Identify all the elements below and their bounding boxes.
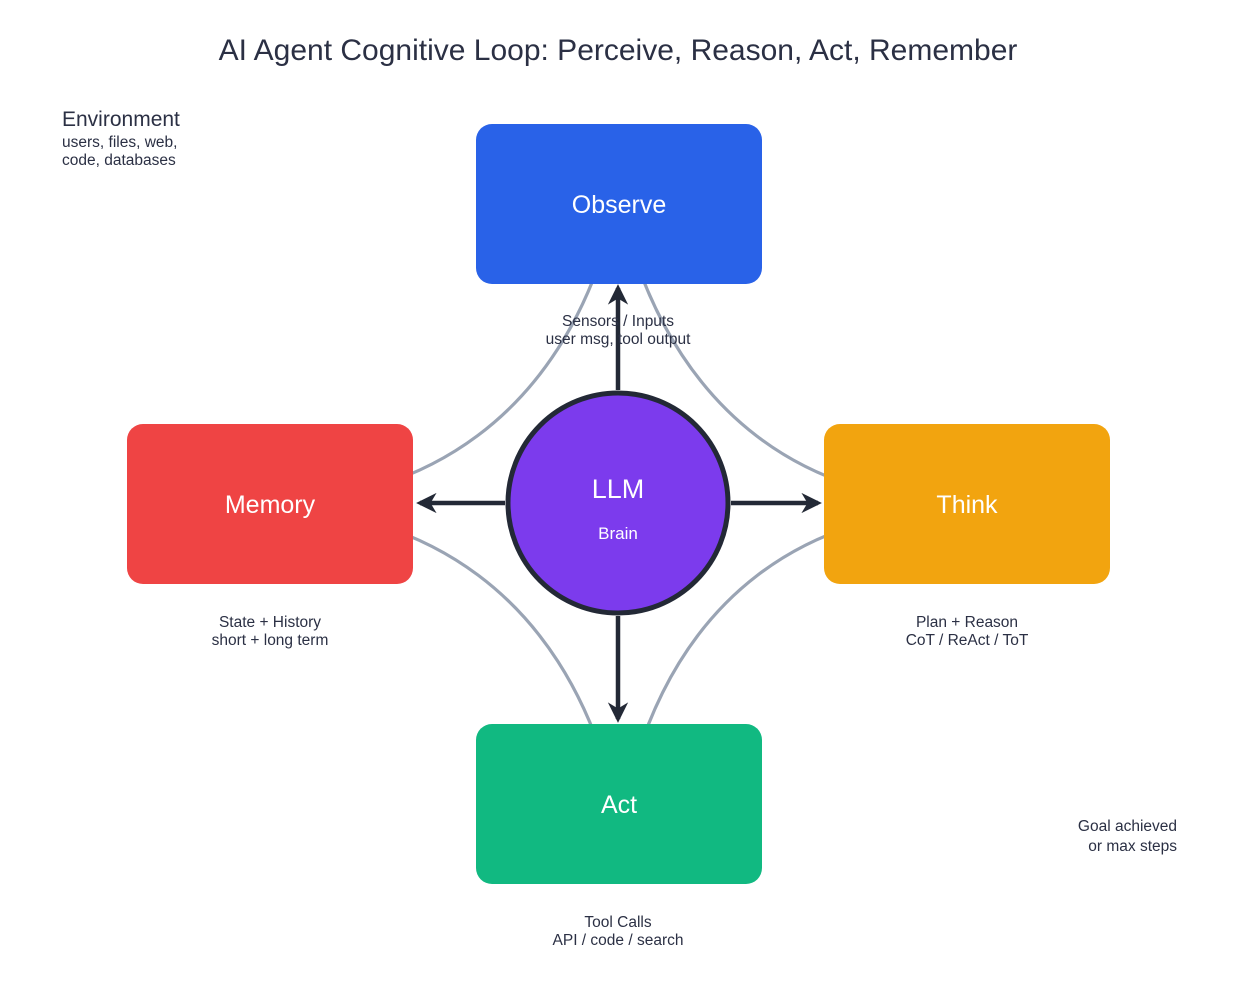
side-note-environment-line1: users, files, web, xyxy=(62,134,177,151)
node-llm-brain[interactable]: LLM Brain xyxy=(508,393,728,613)
node-think-label: Think xyxy=(936,491,998,519)
edge-caption-observe: Sensors / Inputs user msg, tool output xyxy=(546,313,691,348)
side-note-environment-title: Environment xyxy=(62,108,180,131)
page-title: AI Agent Cognitive Loop: Perceive, Reaso… xyxy=(219,34,1018,67)
caption-memory-line1: State + History xyxy=(219,614,321,631)
caption-think-line1: Plan + Reason xyxy=(916,614,1018,631)
side-note-termination: Goal achieved or max steps xyxy=(1078,818,1177,855)
node-llm-label: LLM xyxy=(592,474,645,504)
node-act-label: Act xyxy=(601,791,637,819)
caption-act-line2: API / code / search xyxy=(553,932,684,949)
caption-memory: State + History short + long term xyxy=(212,614,329,649)
side-note-termination-line2: or max steps xyxy=(1088,838,1177,855)
caption-memory-line2: short + long term xyxy=(212,632,329,649)
node-observe[interactable]: Observe xyxy=(476,124,762,284)
node-memory[interactable]: Memory xyxy=(127,424,413,584)
caption-act-line1: Tool Calls xyxy=(584,914,651,931)
node-think[interactable]: Think xyxy=(824,424,1110,584)
edge-caption-observe-line1: Sensors / Inputs xyxy=(562,313,674,330)
side-note-environment-line2: code, databases xyxy=(62,152,176,169)
caption-think-line2: CoT / ReAct / ToT xyxy=(906,632,1029,649)
caption-act: Tool Calls API / code / search xyxy=(553,914,684,949)
caption-think: Plan + Reason CoT / ReAct / ToT xyxy=(906,614,1029,649)
diagram-canvas: AI Agent Cognitive Loop: Perceive, Reaso… xyxy=(0,0,1237,984)
node-observe-label: Observe xyxy=(572,191,666,219)
node-memory-label: Memory xyxy=(225,491,316,519)
side-note-environment: Environment users, files, web, code, dat… xyxy=(62,108,180,169)
node-llm-sublabel: Brain xyxy=(598,524,638,543)
edge-caption-observe-line2: user msg, tool output xyxy=(546,331,691,348)
node-act[interactable]: Act xyxy=(476,724,762,884)
side-note-termination-line1: Goal achieved xyxy=(1078,818,1177,835)
